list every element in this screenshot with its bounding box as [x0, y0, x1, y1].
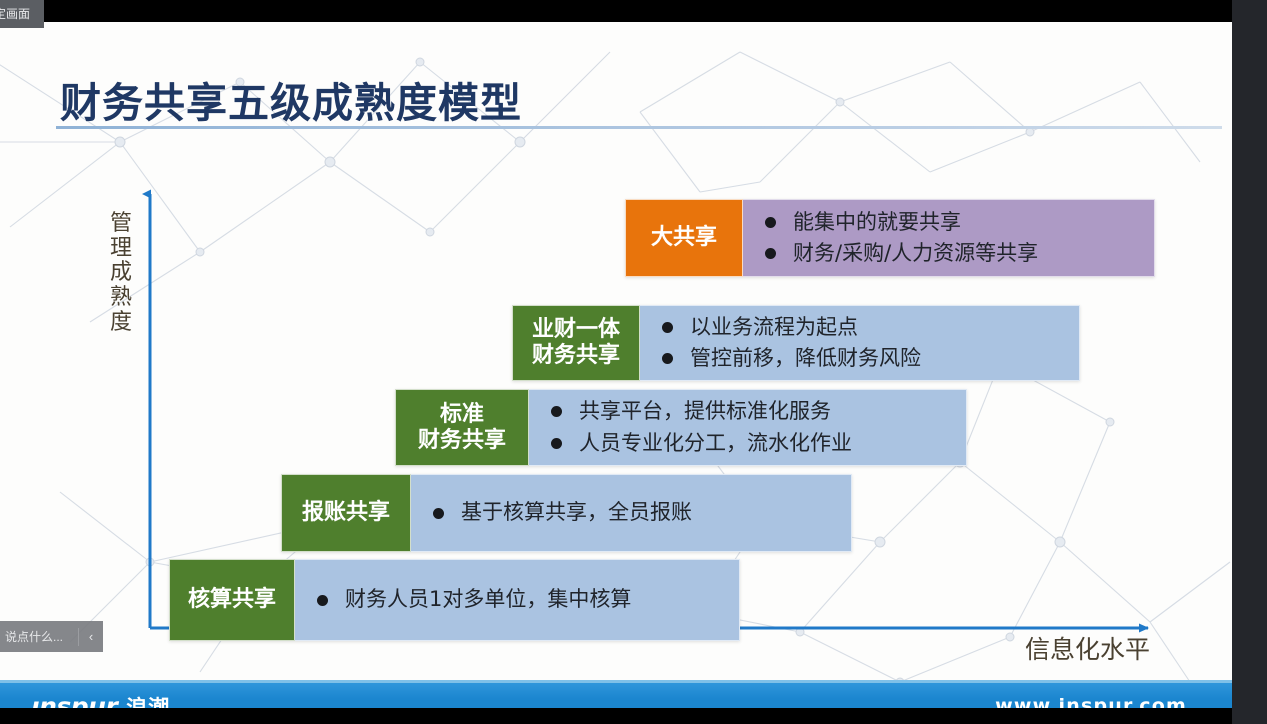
title-underline-rule — [56, 126, 1222, 129]
tier-body-2: 基于核算共享，全员报账 — [411, 474, 852, 552]
tier-bullet-4-2: 管控前移，降低财务风险 — [662, 343, 1079, 375]
tier-row-4[interactable]: 业财一体财务共享 以业务流程为起点管控前移，降低财务风险 — [512, 305, 1080, 381]
tier-row-3[interactable]: 标准财务共享 共享平台，提供标准化服务人员专业化分工，流水化作业 — [395, 389, 967, 466]
logo-chinese: 浪潮 — [126, 696, 170, 708]
inspur-logo: ınspur浪潮 — [31, 692, 170, 708]
x-axis-label: 信息化水平 — [1025, 630, 1150, 666]
tier-bullet-text: 能集中的就要共享 — [793, 207, 961, 239]
tier-bullet-text: 财务人员1对多单位，集中核算 — [345, 584, 631, 616]
bullet-dot-icon — [551, 406, 562, 417]
tier-bullet-5-1: 能集中的就要共享 — [765, 207, 1154, 239]
tier-body-1: 财务人员1对多单位，集中核算 — [295, 559, 740, 641]
website-url: www.inspur.com — [995, 695, 1187, 708]
logo-wordmark: ınspur — [31, 692, 117, 708]
tier-bullet-text: 共享平台，提供标准化服务 — [579, 396, 831, 428]
bullet-dot-icon — [765, 217, 776, 228]
bullet-dot-icon — [765, 248, 776, 259]
tier-bullet-text: 财务/采购/人力资源等共享 — [793, 238, 1038, 270]
bullet-dot-icon — [662, 322, 673, 333]
bullet-dot-icon — [317, 595, 328, 606]
tier-bullet-text: 人员专业化分工，流水化作业 — [579, 428, 852, 460]
tier-body-3: 共享平台，提供标准化服务人员专业化分工，流水化作业 — [529, 389, 967, 466]
bullet-dot-icon — [433, 508, 444, 519]
comment-input-bar[interactable]: 说点什么... ‹ — [0, 621, 103, 652]
comment-input[interactable]: 说点什么... — [0, 628, 78, 645]
tier-row-2[interactable]: 报账共享 基于核算共享，全员报账 — [281, 474, 852, 552]
page-title: 财务共享五级成熟度模型 — [60, 69, 522, 129]
tier-bullet-text: 管控前移，降低财务风险 — [690, 343, 921, 375]
tier-bullet-text: 基于核算共享，全员报账 — [461, 497, 692, 529]
tier-label-3: 标准财务共享 — [395, 389, 529, 466]
tier-bullet-4-1: 以业务流程为起点 — [662, 312, 1079, 344]
tier-label-1: 核算共享 — [169, 559, 295, 641]
screen-root: 财务共享五级成熟度模型 管理成熟度 信息化水平 核算共享 财务人员1对多单位，集… — [0, 0, 1267, 724]
tier-bullet-1-1: 财务人员1对多单位，集中核算 — [317, 584, 739, 616]
tier-body-4: 以业务流程为起点管控前移，降低财务风险 — [640, 305, 1080, 381]
tier-row-1[interactable]: 核算共享 财务人员1对多单位，集中核算 — [169, 559, 740, 641]
y-axis-label: 管理成熟度 — [104, 212, 138, 335]
bullet-dot-icon — [662, 353, 673, 364]
tier-bullet-3-2: 人员专业化分工，流水化作业 — [551, 428, 966, 460]
tier-bullet-2-1: 基于核算共享，全员报账 — [433, 497, 851, 529]
slide-footer: ınspur浪潮 www.inspur.com — [0, 680, 1232, 708]
tier-label-5: 大共享 — [625, 199, 743, 277]
tier-body-5: 能集中的就要共享财务/采购/人力资源等共享 — [743, 199, 1155, 277]
lock-screen-label: 定画面 — [0, 7, 30, 21]
player-top-bar — [0, 0, 1232, 22]
tier-label-4: 业财一体财务共享 — [512, 305, 640, 381]
player-bottom-strip — [0, 708, 1232, 724]
tier-bullet-3-1: 共享平台，提供标准化服务 — [551, 396, 966, 428]
player-right-rail[interactable] — [1232, 0, 1267, 724]
chevron-left-icon[interactable]: ‹ — [79, 629, 103, 644]
tier-bullet-5-2: 财务/采购/人力资源等共享 — [765, 238, 1154, 270]
tier-row-5[interactable]: 大共享 能集中的就要共享财务/采购/人力资源等共享 — [625, 199, 1155, 277]
tier-bullet-text: 以业务流程为起点 — [690, 312, 858, 344]
presentation-slide: 财务共享五级成熟度模型 管理成熟度 信息化水平 核算共享 财务人员1对多单位，集… — [0, 22, 1232, 708]
tier-label-2: 报账共享 — [281, 474, 411, 552]
bullet-dot-icon — [551, 438, 562, 449]
